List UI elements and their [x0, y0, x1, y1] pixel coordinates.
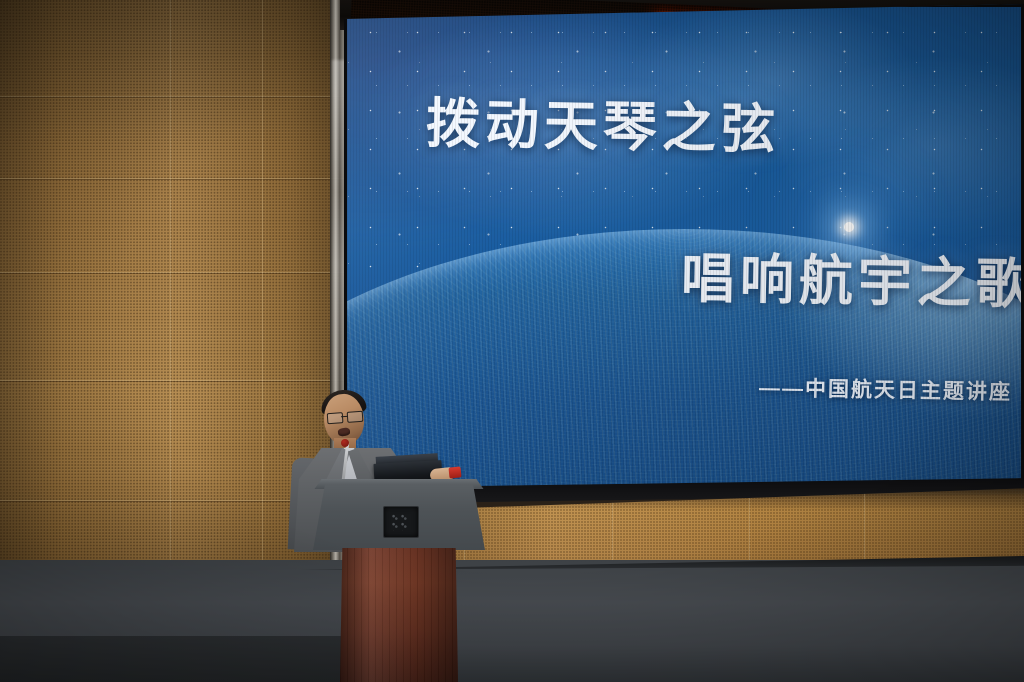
slide-title-line-2: 唱响航宇之歌	[680, 233, 1024, 318]
pillar-reflection	[332, 60, 346, 390]
podium-base	[340, 548, 458, 682]
microphone-icon	[341, 439, 349, 447]
slide-title-line-1: 拨动天琴之弦	[425, 78, 780, 163]
lecture-hall-scene: 唱响航宇之歌” —中国航天日主题讲座 拨动天琴之弦 唱响航宇之歌 ——中国航天日…	[0, 0, 1024, 682]
podium-wood-grain	[340, 548, 458, 682]
podium-emblem-icon	[383, 506, 419, 538]
floor-left-dark	[0, 636, 352, 682]
light-burst-icon	[844, 222, 854, 232]
glasses-icon	[327, 411, 364, 422]
slide-subtitle: ——中国航天日主题讲座	[759, 372, 1012, 406]
presentation-screen[interactable]: 拨动天琴之弦 唱响航宇之歌 ——中国航天日主题讲座	[344, 4, 1024, 504]
red-object-on-podium	[448, 466, 461, 478]
